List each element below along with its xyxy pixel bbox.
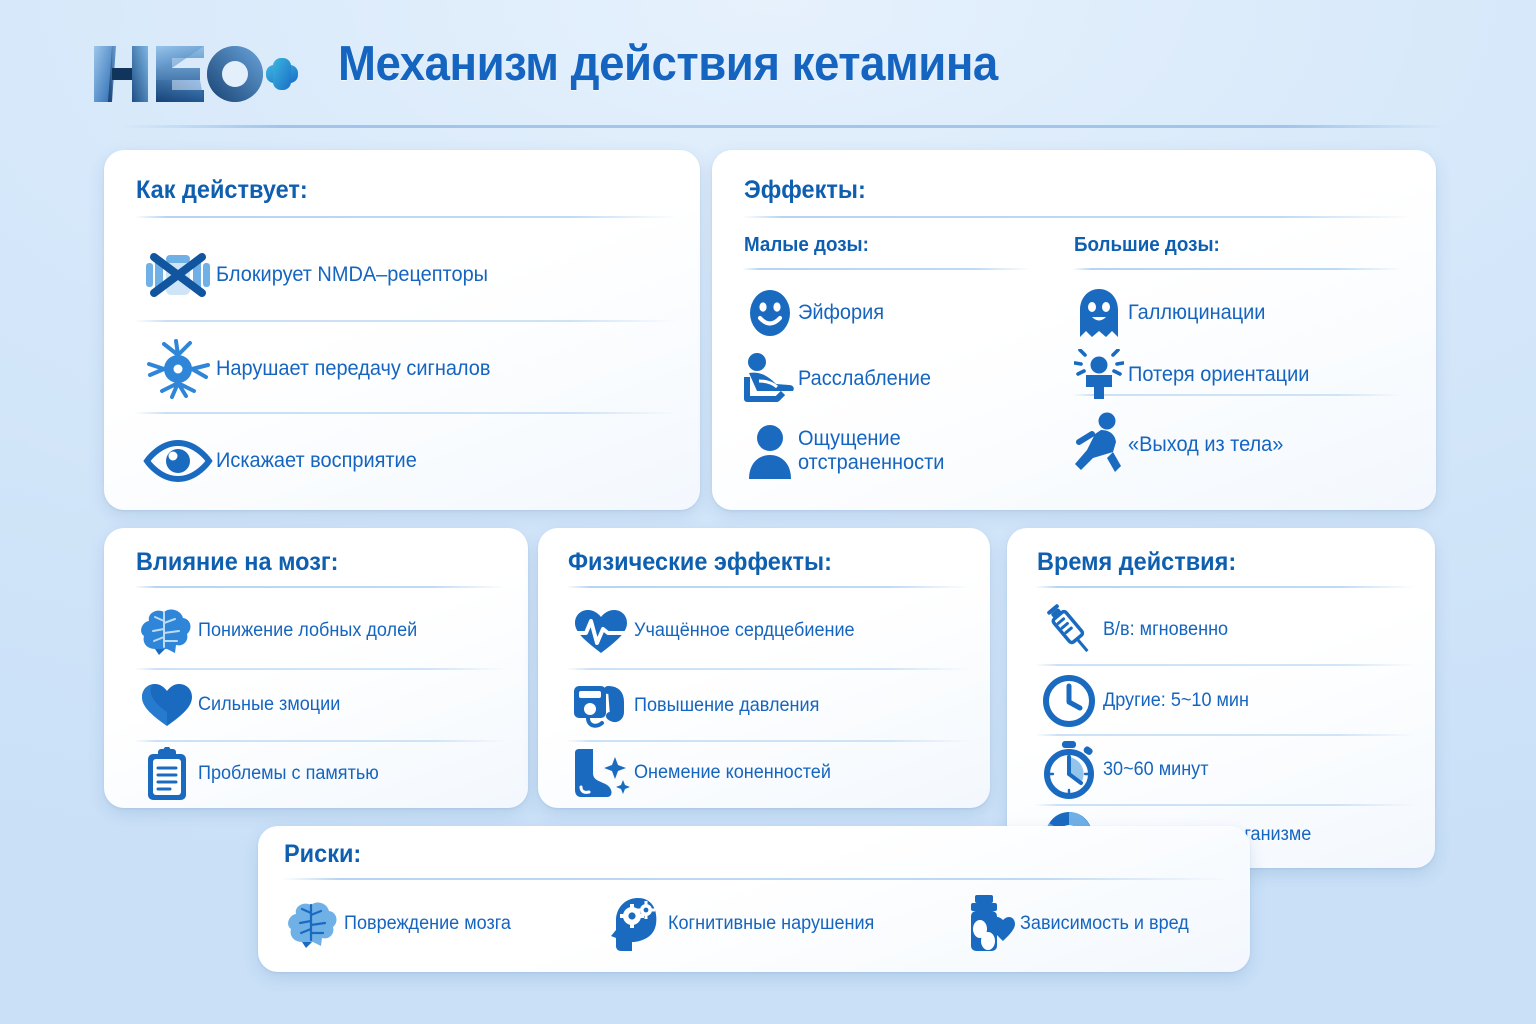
list-item[interactable]: Искажает восприятие bbox=[140, 428, 680, 494]
list-item[interactable]: Другие: 5~10 мин bbox=[1035, 670, 1425, 732]
smiley-face-icon bbox=[742, 288, 798, 338]
list-item[interactable]: В/в: мгновенно bbox=[1035, 598, 1425, 662]
divider bbox=[1035, 664, 1415, 666]
divider bbox=[134, 740, 506, 742]
list-item-label: Ощущение отстраненности bbox=[798, 427, 944, 474]
list-item[interactable]: Потеря ориентации bbox=[1070, 346, 1420, 404]
list-item-label: Эйфория bbox=[798, 301, 884, 325]
card-title-brain-impact: Влияние на мозг: bbox=[136, 548, 339, 577]
list-item[interactable]: Понижение лобных долей bbox=[136, 600, 516, 662]
numb-foot-icon bbox=[568, 747, 634, 799]
list-item-label: Когнитивные нарушения bbox=[668, 913, 874, 934]
clipboard-icon bbox=[136, 747, 198, 801]
card-title-physical-effects: Физические эффекты: bbox=[568, 548, 832, 577]
list-item-label: Проблемы с памятью bbox=[198, 763, 379, 784]
header-divider bbox=[120, 125, 1446, 128]
list-item-label: Блокирует NMDA–рецепторы bbox=[216, 263, 488, 287]
list-item[interactable]: Повреждение мозга bbox=[282, 888, 592, 960]
person-silhouette-icon bbox=[742, 423, 798, 479]
divider bbox=[742, 268, 1032, 270]
list-item[interactable]: Повышение давления bbox=[568, 676, 978, 736]
list-item[interactable]: Онемение коненностей bbox=[568, 744, 978, 802]
divider bbox=[134, 320, 678, 322]
list-item-label: Другие: 5~10 мин bbox=[1103, 690, 1249, 711]
list-item-label: «Выход из тела» bbox=[1128, 433, 1283, 457]
list-item-label: Расслабление bbox=[798, 367, 931, 391]
divider bbox=[1035, 804, 1415, 806]
heartbeat-icon bbox=[568, 607, 634, 655]
list-item-label: Повышение давления bbox=[634, 695, 819, 716]
card-risks: Риски: Повреждение мозга bbox=[258, 826, 1250, 972]
list-item[interactable]: Галлюцинации bbox=[1070, 284, 1420, 342]
card-title-risks: Риски: bbox=[284, 840, 361, 869]
list-item-label: Онемение коненностей bbox=[634, 762, 831, 783]
list-item-label: В/в: мгновенно bbox=[1103, 619, 1228, 640]
card-how-it-works: Как действует: Блокирует NMDA–рецепторы bbox=[104, 150, 700, 510]
list-item[interactable]: Эйфория bbox=[742, 284, 1052, 342]
header: Механизм действия кетамина bbox=[90, 30, 1446, 130]
list-item[interactable]: «Выход из тела» bbox=[1070, 410, 1420, 480]
list-item-label: Понижение лобных долей bbox=[198, 620, 417, 641]
list-item[interactable]: Когнитивные нарушения bbox=[606, 888, 936, 960]
eye-icon bbox=[140, 439, 216, 483]
divider bbox=[134, 412, 678, 414]
list-item[interactable]: Нарушает передачу сигналов bbox=[140, 336, 680, 402]
list-item-label: Сильные змоции bbox=[198, 694, 340, 715]
neo-plus-logo bbox=[90, 38, 300, 110]
card-brain-impact: Влияние на мозг: Понижение лобных долей bbox=[104, 528, 528, 808]
divider bbox=[566, 740, 970, 742]
card-effects: Эффекты: Малые дозы: Эйфория bbox=[712, 150, 1436, 510]
subcolumn-title-low-dose: Малые дозы: bbox=[744, 234, 869, 257]
reclining-person-icon bbox=[742, 351, 798, 407]
blood-pressure-monitor-icon bbox=[568, 680, 634, 732]
list-item[interactable]: Расслабление bbox=[742, 348, 1052, 410]
list-item-label: 30~60 минут bbox=[1103, 759, 1208, 780]
list-item[interactable]: Блокирует NMDA–рецепторы bbox=[140, 242, 680, 308]
blocked-receptor-icon bbox=[140, 249, 216, 301]
list-item-label: Галлюцинации bbox=[1128, 301, 1265, 325]
card-title-duration: Время действия: bbox=[1037, 548, 1236, 577]
list-item-label: Нарушает передачу сигналов bbox=[216, 357, 490, 381]
list-item-label: Зависимость и вред bbox=[1020, 913, 1189, 934]
card-physical-effects: Физические эффекты: Учащённое сердцебиен… bbox=[538, 528, 990, 808]
divider bbox=[1035, 586, 1415, 588]
divider bbox=[282, 878, 1230, 880]
list-item-label: Искажает восприятие bbox=[216, 449, 417, 473]
subcolumn-title-high-dose: Большие дозы: bbox=[1074, 234, 1220, 257]
divider bbox=[566, 586, 970, 588]
list-item[interactable]: Проблемы с памятью bbox=[136, 746, 516, 802]
divider bbox=[134, 668, 506, 670]
card-title-effects: Эффекты: bbox=[744, 176, 866, 205]
syringe-icon bbox=[1035, 600, 1103, 660]
clock-icon bbox=[1035, 674, 1103, 728]
page-title: Механизм действия кетамина bbox=[338, 36, 998, 92]
disoriented-person-icon bbox=[1070, 349, 1128, 401]
card-title-how-it-works: Как действует: bbox=[136, 176, 308, 205]
damaged-brain-icon bbox=[282, 900, 344, 948]
floating-body-icon bbox=[1070, 412, 1128, 478]
list-item[interactable]: Учащённое сердцебиение bbox=[568, 600, 978, 662]
brain-icon bbox=[136, 607, 198, 655]
ghost-icon bbox=[1070, 287, 1128, 339]
list-item-label: Учащённое сердцебиение bbox=[634, 620, 855, 641]
list-item[interactable]: Зависимость и вред bbox=[958, 888, 1248, 960]
divider bbox=[134, 586, 506, 588]
divider bbox=[134, 216, 678, 218]
divider bbox=[742, 216, 1414, 218]
list-item-label: Потеря ориентации bbox=[1128, 363, 1309, 387]
divider bbox=[1072, 268, 1402, 270]
infographic-root: Механизм действия кетамина Как действует… bbox=[0, 0, 1536, 1024]
list-item[interactable]: Ощущение отстраненности bbox=[742, 418, 1052, 484]
stopwatch-icon bbox=[1035, 741, 1103, 799]
list-item-label: Повреждение мозга bbox=[344, 913, 511, 934]
divider bbox=[566, 668, 970, 670]
heart-icon bbox=[136, 682, 198, 728]
pill-bottle-icon bbox=[958, 895, 1020, 953]
list-item[interactable]: 30~60 минут bbox=[1035, 738, 1425, 802]
card-duration: Время действия: В/в: мгновенно bbox=[1007, 528, 1435, 868]
head-gears-icon bbox=[606, 896, 668, 952]
list-item[interactable]: Сильные змоции bbox=[136, 676, 516, 734]
neuron-icon bbox=[140, 339, 216, 399]
divider bbox=[1035, 734, 1415, 736]
